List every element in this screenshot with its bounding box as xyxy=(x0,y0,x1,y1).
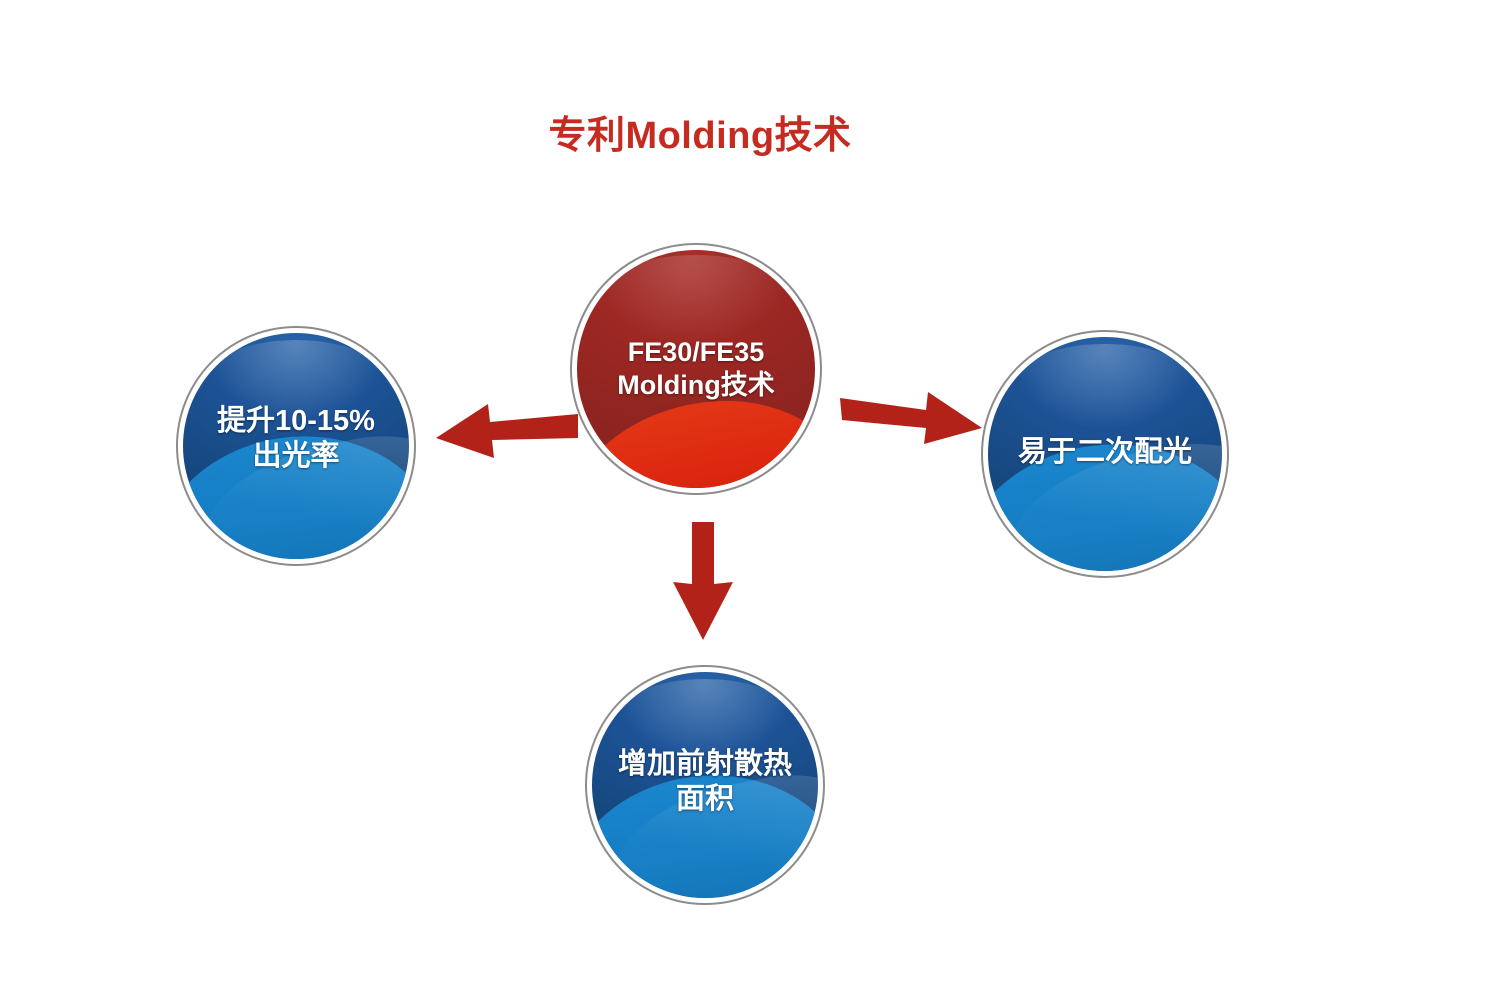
arrow-bottom xyxy=(665,522,741,642)
arrow-left-icon xyxy=(432,392,578,464)
arrow-right-icon xyxy=(838,382,986,458)
arrow-right xyxy=(838,382,986,458)
node-center-label: FE30/FE35 Molding技术 xyxy=(607,336,784,402)
node-right-highlight xyxy=(1011,344,1198,428)
arrow-down-icon xyxy=(665,522,741,642)
node-right[interactable]: 易于二次配光 xyxy=(981,330,1229,578)
node-center-gloss xyxy=(577,387,815,488)
arrow-left xyxy=(432,392,578,464)
node-left[interactable]: 提升10-15% 出光率 xyxy=(176,326,416,566)
node-center-highlight xyxy=(596,255,796,345)
page-title: 专利Molding技术 xyxy=(0,104,1400,159)
node-center[interactable]: FE30/FE35 Molding技术 xyxy=(570,243,822,495)
node-left-label: 提升10-15% 出光率 xyxy=(207,404,385,475)
diagram-canvas: 专利Molding技术 FE30/FE35 Molding技术 xyxy=(0,0,1500,1000)
node-right-label: 易于二次配光 xyxy=(1008,435,1202,470)
node-bottom[interactable]: 增加前射散热 面积 xyxy=(585,665,825,905)
node-bottom-label: 增加前射散热 面积 xyxy=(608,747,802,818)
